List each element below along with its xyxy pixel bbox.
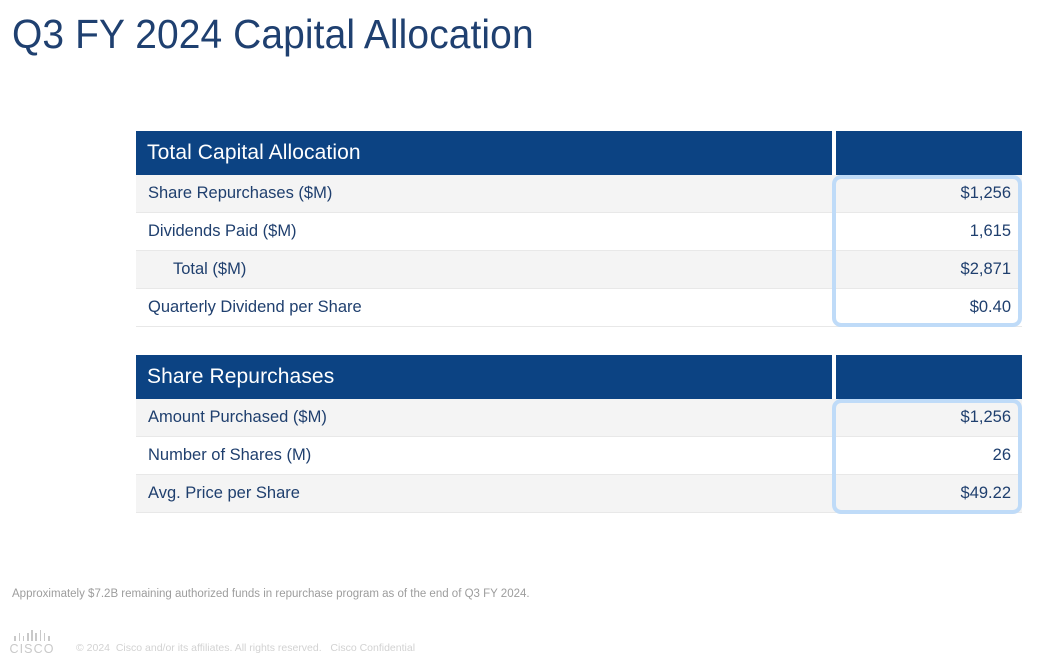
table-row: Share Repurchases ($M) $1,256: [136, 175, 1022, 213]
table-row: Number of Shares (M) 26: [136, 437, 1022, 475]
copyright-text: © 2024 Cisco and/or its affiliates. All …: [76, 642, 415, 654]
table-header-row: Total Capital Allocation: [136, 131, 1022, 175]
table-header-title: Share Repurchases: [136, 355, 832, 399]
table-body: Share Repurchases ($M) $1,256 Dividends …: [136, 175, 1022, 327]
row-label: Avg. Price per Share: [136, 475, 860, 513]
table-total-capital-allocation: Total Capital Allocation Share Repurchas…: [136, 131, 1022, 327]
table-header-value-cell: [836, 131, 1022, 175]
page-title: Q3 FY 2024 Capital Allocation: [12, 8, 534, 60]
slide-footer: CISCO © 2024 Cisco and/or its affiliates…: [8, 630, 415, 656]
row-value: $2,871: [860, 251, 1022, 289]
cisco-logo: CISCO: [8, 630, 56, 656]
row-label: Total ($M): [136, 251, 860, 289]
table-header-value-cell: [836, 355, 1022, 399]
row-label: Number of Shares (M): [136, 437, 860, 475]
row-value: 26: [860, 437, 1022, 475]
cisco-wordmark: CISCO: [9, 642, 54, 656]
table-row: Total ($M) $2,871: [136, 251, 1022, 289]
cisco-bridge-icon: [14, 630, 49, 641]
table-header-title: Total Capital Allocation: [136, 131, 832, 175]
row-value: $0.40: [860, 289, 1022, 327]
table-body: Amount Purchased ($M) $1,256 Number of S…: [136, 399, 1022, 513]
row-value: $1,256: [860, 399, 1022, 437]
row-value: $49.22: [860, 475, 1022, 513]
row-value: $1,256: [860, 175, 1022, 213]
row-value: 1,615: [860, 213, 1022, 251]
row-label: Share Repurchases ($M): [136, 175, 860, 213]
table-row: Dividends Paid ($M) 1,615: [136, 213, 1022, 251]
table-share-repurchases: Share Repurchases Amount Purchased ($M) …: [136, 355, 1022, 513]
footnote: Approximately $7.2B remaining authorized…: [12, 588, 530, 600]
table-row: Amount Purchased ($M) $1,256: [136, 399, 1022, 437]
table-row: Avg. Price per Share $49.22: [136, 475, 1022, 513]
table-row: Quarterly Dividend per Share $0.40: [136, 289, 1022, 327]
row-label: Dividends Paid ($M): [136, 213, 860, 251]
row-label: Amount Purchased ($M): [136, 399, 860, 437]
row-label: Quarterly Dividend per Share: [136, 289, 860, 327]
table-header-row: Share Repurchases: [136, 355, 1022, 399]
